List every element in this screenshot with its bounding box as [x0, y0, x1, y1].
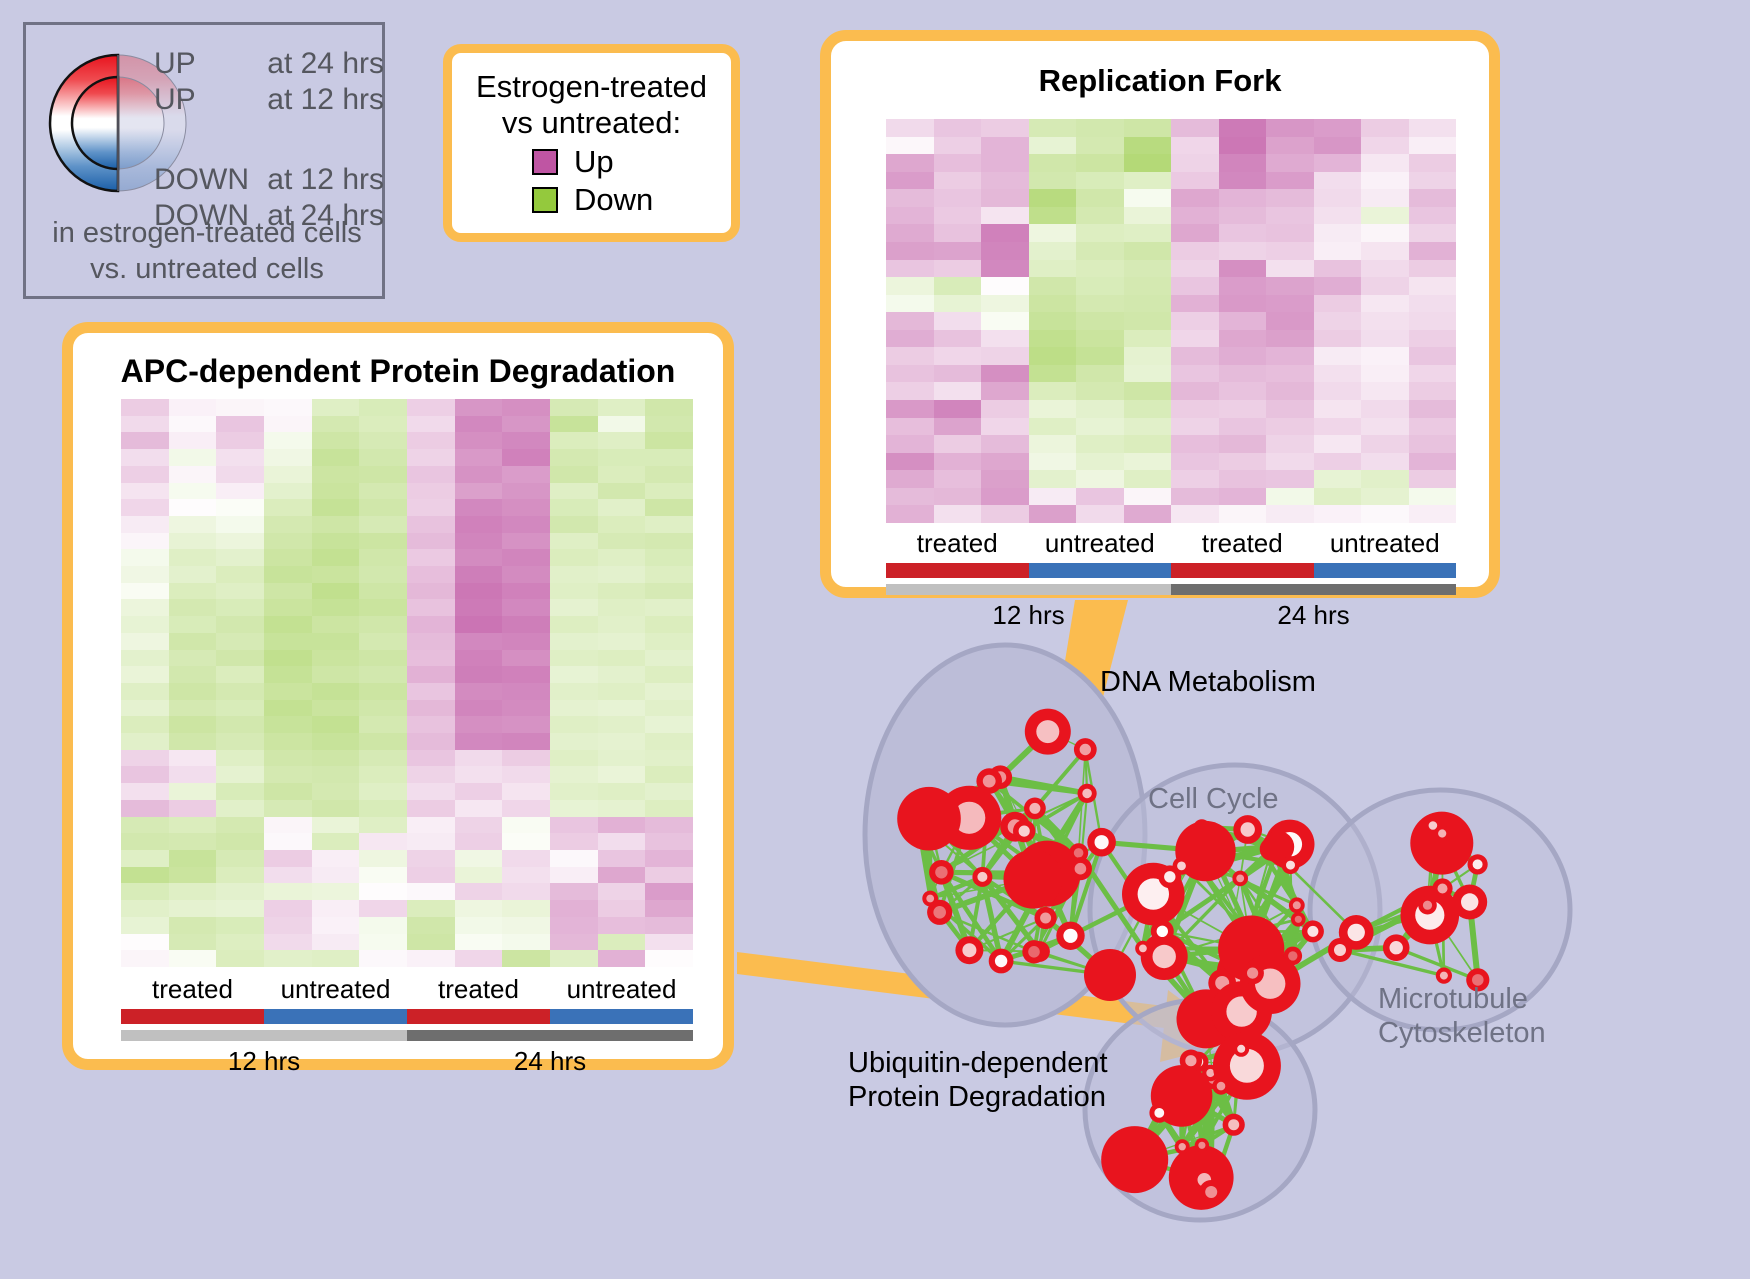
- heatmap-cell: [216, 432, 264, 449]
- heatmap-cell: [407, 766, 455, 783]
- network-node[interactable]: [1135, 941, 1150, 956]
- cluster-label-microtubule-cytoskeleton: Microtubule Cytoskeleton: [1378, 982, 1546, 1050]
- heatmap-cell: [312, 900, 360, 917]
- heatmap-cell: [886, 505, 934, 523]
- network-node[interactable]: [1022, 940, 1045, 963]
- heatmap-cell: [1266, 488, 1314, 506]
- heatmap-cell: [264, 917, 312, 934]
- heatmap-cell: [886, 277, 934, 295]
- heatmap-cell: [981, 277, 1029, 295]
- heatmap-cell: [502, 817, 550, 834]
- heatmap-cell: [455, 750, 503, 767]
- heatmap-cell: [407, 399, 455, 416]
- network-node-core: [1293, 901, 1301, 909]
- heatmap-cell: [550, 516, 598, 533]
- heatmap-cell: [1219, 330, 1267, 348]
- heatmap-cell: [1124, 488, 1172, 506]
- heatmap-cell: [502, 883, 550, 900]
- heatmap-cell: [216, 483, 264, 500]
- heatmap-cell: [216, 566, 264, 583]
- network-node[interactable]: [1013, 820, 1035, 842]
- network-node[interactable]: [1328, 938, 1352, 962]
- heatmap-cell: [1219, 312, 1267, 330]
- heatmap-cell: [1314, 119, 1362, 137]
- heatmap-cell: [550, 432, 598, 449]
- heatmap-cell: [645, 766, 693, 783]
- heatmap-cell: [1219, 453, 1267, 471]
- heatmap-cell: [1219, 435, 1267, 453]
- network-node[interactable]: [1432, 878, 1452, 898]
- heatmap-cell: [1266, 154, 1314, 172]
- heatmap-cell: [645, 783, 693, 800]
- heatmap-cell: [1124, 242, 1172, 260]
- heatmap-cell: [312, 867, 360, 884]
- heatmap-cell: [407, 733, 455, 750]
- heatmap-cell: [598, 850, 646, 867]
- heatmap-cell: [1076, 505, 1124, 523]
- heatmap-row: [121, 883, 693, 900]
- heatmap-cell: [598, 466, 646, 483]
- network-node-core: [1063, 929, 1077, 943]
- heatmap-cell: [312, 583, 360, 600]
- heatmap-cell: [312, 633, 360, 650]
- heatmap-cell: [1314, 260, 1362, 278]
- heatmap-row: [121, 599, 693, 616]
- heatmap-cell: [1314, 365, 1362, 383]
- heatmap-cell: [1409, 119, 1457, 137]
- heatmap-cell: [502, 633, 550, 650]
- heatmap-cell: [1361, 470, 1409, 488]
- heatmap-cell: [312, 432, 360, 449]
- heatmap-cell: [1076, 260, 1124, 278]
- network-node[interactable]: [1452, 885, 1487, 920]
- bar-time-12: [121, 1030, 407, 1041]
- heatmap-cell: [981, 207, 1029, 225]
- heatmap-cell: [1409, 154, 1457, 172]
- heatmap-cell: [1171, 347, 1219, 365]
- heatmap-cell: [598, 516, 646, 533]
- network-node[interactable]: [1241, 962, 1264, 985]
- heatmap-cell: [169, 633, 217, 650]
- heatmap-cell: [455, 716, 503, 733]
- heatmap-row: [121, 950, 693, 967]
- heatmap-cell: [550, 917, 598, 934]
- heatmap-cell: [934, 207, 982, 225]
- heatmap-cell: [1314, 137, 1362, 155]
- heatmap-cell: [1314, 224, 1362, 242]
- axis-label-treated-24: treated: [407, 973, 550, 1005]
- heatmap-cell: [1219, 189, 1267, 207]
- heatmap-cell: [934, 172, 982, 190]
- heatmap-cell: [598, 483, 646, 500]
- network-node[interactable]: [1199, 1180, 1223, 1204]
- heatmap-cell: [550, 733, 598, 750]
- network-node[interactable]: [1383, 934, 1410, 961]
- heatmap-cell: [1314, 470, 1362, 488]
- heatmap-cell: [1029, 365, 1077, 383]
- key-time-down-12: at 12 hrs: [267, 163, 384, 197]
- key-state-down-12: DOWN: [154, 163, 267, 197]
- network-node[interactable]: [1291, 912, 1306, 927]
- heatmap-row: [121, 833, 693, 850]
- network-node[interactable]: [1418, 896, 1437, 915]
- heatmap-cell: [1314, 418, 1362, 436]
- key-time-up-12: at 12 hrs: [267, 83, 384, 117]
- network-node[interactable]: [955, 936, 983, 964]
- heatmap-cell: [1076, 488, 1124, 506]
- heatmap-cell: [1361, 400, 1409, 418]
- heatmap-cell: [1076, 365, 1124, 383]
- heatmap-row: [121, 583, 693, 600]
- heatmap-cell: [121, 733, 169, 750]
- heatmap-row: [886, 137, 1456, 155]
- heatmap-cell: [216, 900, 264, 917]
- heatmap-cell: [455, 766, 503, 783]
- heatmap-row: [121, 432, 693, 449]
- heatmap-cell: [359, 766, 407, 783]
- heatmap-cell: [216, 666, 264, 683]
- network-node-core: [1198, 1142, 1205, 1149]
- heatmap-cell: [312, 566, 360, 583]
- network-node[interactable]: [1212, 1078, 1229, 1095]
- heatmap-cell: [1266, 260, 1314, 278]
- network-node[interactable]: [989, 949, 1014, 974]
- axis-treatment-bars: [121, 1009, 693, 1024]
- heatmap-cell: [455, 432, 503, 449]
- heatmap-cell: [1171, 382, 1219, 400]
- network-node[interactable]: [1233, 1041, 1249, 1057]
- network-node[interactable]: [1025, 709, 1071, 755]
- heatmap-cell: [1171, 470, 1219, 488]
- network-node[interactable]: [1468, 854, 1488, 874]
- heatmap-cell: [598, 566, 646, 583]
- heatmap-cell: [502, 833, 550, 850]
- heatmap-cell: [981, 137, 1029, 155]
- heatmap-cell: [1314, 207, 1362, 225]
- heatmap-cell: [1124, 312, 1172, 330]
- heatmap-cell: [886, 207, 934, 225]
- heatmap-cell: [981, 453, 1029, 471]
- heatmap-cell: [121, 950, 169, 967]
- heatmap-cell: [1219, 207, 1267, 225]
- network-node[interactable]: [972, 867, 992, 887]
- heatmap-cell: [1124, 453, 1172, 471]
- heatmap-cell: [121, 583, 169, 600]
- heatmap-cell: [455, 549, 503, 566]
- heatmap-cell: [359, 867, 407, 884]
- heatmap-cell: [312, 650, 360, 667]
- heatmap-cell: [502, 950, 550, 967]
- heatmap-cell: [407, 817, 455, 834]
- network-node[interactable]: [1035, 907, 1057, 929]
- bar-treated-24: [1171, 563, 1314, 578]
- bar-untreated-12: [264, 1009, 407, 1024]
- network-node[interactable]: [1084, 949, 1136, 1001]
- heatmap-cell: [455, 616, 503, 633]
- heatmap-cell: [216, 750, 264, 767]
- heatmap-cell: [407, 449, 455, 466]
- network-node[interactable]: [1101, 1126, 1168, 1193]
- heatmap-cell: [1409, 224, 1457, 242]
- heatmap-cell: [455, 449, 503, 466]
- key-row-up-12: UP at 12 hrs: [154, 83, 384, 117]
- heatmap-cell: [550, 950, 598, 967]
- heatmap-cell: [1029, 347, 1077, 365]
- heatmap-cell: [121, 483, 169, 500]
- network-node-core: [1074, 848, 1084, 858]
- network-node-core: [1205, 1186, 1217, 1198]
- heatmap-cell: [1029, 242, 1077, 260]
- heatmap-cell: [1219, 347, 1267, 365]
- heatmap-cell: [645, 416, 693, 433]
- heatmap-cell: [1409, 207, 1457, 225]
- heatmap-cell: [169, 650, 217, 667]
- heatmap-cell: [359, 516, 407, 533]
- network-node[interactable]: [1151, 920, 1174, 943]
- heatmap-cell: [359, 666, 407, 683]
- network-node[interactable]: [1410, 812, 1473, 875]
- heatmap-row: [121, 616, 693, 633]
- heatmap-cell: [1124, 347, 1172, 365]
- heatmap-cell: [1219, 400, 1267, 418]
- heatmap-cell: [886, 295, 934, 313]
- updown-legend-card: Estrogen-treated vs untreated: Up Down: [443, 44, 740, 242]
- heatmap-cell: [312, 466, 360, 483]
- heatmap-cell: [407, 867, 455, 884]
- heatmap-cell: [550, 499, 598, 516]
- bar-untreated-24: [550, 1009, 693, 1024]
- heatmap-cell: [1171, 330, 1219, 348]
- heatmap-cell: [645, 950, 693, 967]
- bar-treated-12: [886, 563, 1029, 578]
- heatmap-cell: [1029, 418, 1077, 436]
- heatmap-cell: [598, 633, 646, 650]
- heatmap-cell: [1409, 400, 1457, 418]
- network-node[interactable]: [1302, 920, 1324, 942]
- heatmap-cell: [550, 616, 598, 633]
- heatmap-cell: [598, 599, 646, 616]
- heatmap-cell: [1029, 119, 1077, 137]
- heatmap-cell: [264, 399, 312, 416]
- heatmap-cell: [934, 242, 982, 260]
- heatmap-cell: [264, 499, 312, 516]
- heatmap-cell: [598, 817, 646, 834]
- heatmap-cell: [598, 399, 646, 416]
- heatmap-cell: [216, 766, 264, 783]
- heatmap-row: [121, 900, 693, 917]
- heatmap-cell: [1029, 137, 1077, 155]
- heatmap-cell: [886, 488, 934, 506]
- network-node[interactable]: [927, 900, 952, 925]
- color-key-caption-line2: vs. untreated cells: [26, 251, 388, 287]
- heatmap-cell: [407, 716, 455, 733]
- heatmap-cell: [1409, 172, 1457, 190]
- heatmap-cell: [934, 505, 982, 523]
- heatmap-cell: [1409, 330, 1457, 348]
- heatmap-cell: [1029, 400, 1077, 418]
- network-node-core: [962, 943, 976, 957]
- heatmap-cell: [359, 549, 407, 566]
- network-node[interactable]: [1180, 1050, 1202, 1072]
- heatmap-cell: [407, 783, 455, 800]
- heatmap-cell: [264, 483, 312, 500]
- network-node-core: [1179, 1143, 1186, 1150]
- heatmap-cell: [407, 483, 455, 500]
- network-node[interactable]: [929, 860, 954, 885]
- heatmap-cell: [981, 330, 1029, 348]
- network-node[interactable]: [1173, 857, 1191, 875]
- heatmap-cell: [550, 750, 598, 767]
- heatmap-cell: [645, 666, 693, 683]
- heatmap-cell: [645, 716, 693, 733]
- heatmap-cell: [121, 499, 169, 516]
- heatmap-cell: [121, 549, 169, 566]
- heatmap-cell: [169, 616, 217, 633]
- heatmap-cell: [550, 683, 598, 700]
- network-node[interactable]: [1195, 1138, 1209, 1152]
- heatmap-cell: [359, 683, 407, 700]
- network-node[interactable]: [1282, 856, 1300, 874]
- heatmap-cell: [1314, 435, 1362, 453]
- network-node[interactable]: [1434, 825, 1450, 841]
- heatmap-cell: [121, 683, 169, 700]
- heatmap-cell: [1076, 277, 1124, 295]
- network-node-core: [977, 872, 987, 882]
- network-diagram: [780, 620, 1750, 1279]
- heatmap-cell: [1076, 295, 1124, 313]
- heatmap-cell: [645, 483, 693, 500]
- heatmap-cell: [886, 242, 934, 260]
- network-node[interactable]: [1232, 871, 1248, 887]
- heatmap-cell: [934, 312, 982, 330]
- heatmap-cell: [1029, 312, 1077, 330]
- heatmap-cell: [645, 883, 693, 900]
- heatmap-row: [886, 418, 1456, 436]
- heatmap-cell: [455, 833, 503, 850]
- heatmap-cell: [216, 934, 264, 951]
- heatmap-cell: [1124, 224, 1172, 242]
- heatmap-cell: [886, 418, 934, 436]
- heatmap-cell: [886, 330, 934, 348]
- heatmap-row: [121, 466, 693, 483]
- heatmap-cell: [1171, 189, 1219, 207]
- heatmap-cell: [1029, 189, 1077, 207]
- heatmap-cell: [645, 683, 693, 700]
- heatmap-cell: [455, 950, 503, 967]
- network-node[interactable]: [1149, 1103, 1169, 1123]
- heatmap-cell: [550, 599, 598, 616]
- heatmap-cell: [645, 800, 693, 817]
- network-node[interactable]: [1087, 828, 1116, 857]
- network-node[interactable]: [1289, 897, 1305, 913]
- heatmap-row: [121, 917, 693, 934]
- heatmap-cell: [1409, 295, 1457, 313]
- heatmap-cell: [1409, 189, 1457, 207]
- heatmap-cell: [312, 817, 360, 834]
- heatmap-cell: [1171, 224, 1219, 242]
- network-node[interactable]: [1069, 857, 1092, 880]
- heatmap-cell: [312, 483, 360, 500]
- heatmap-row: [886, 207, 1456, 225]
- heatmap-cell: [121, 399, 169, 416]
- heatmap-cell: [216, 733, 264, 750]
- heatmap-cell: [407, 950, 455, 967]
- network-node[interactable]: [1024, 798, 1046, 820]
- heatmap-row: [121, 516, 693, 533]
- network-node[interactable]: [1078, 784, 1097, 803]
- heatmap-cell: [1361, 295, 1409, 313]
- heatmap-cell: [455, 800, 503, 817]
- heatmap-cell: [1076, 330, 1124, 348]
- heatmap-cell: [502, 583, 550, 600]
- heatmap-cell: [216, 683, 264, 700]
- heatmap-cell: [455, 883, 503, 900]
- heatmap-cell: [407, 466, 455, 483]
- heatmap-cell: [1029, 295, 1077, 313]
- heatmap-cell: [264, 633, 312, 650]
- heatmap-cell: [1409, 382, 1457, 400]
- heatmap-cell: [645, 650, 693, 667]
- heatmap-cell: [1029, 453, 1077, 471]
- heatmap-cell: [312, 800, 360, 817]
- network-node-core: [1237, 1045, 1245, 1053]
- heatmap-cell: [216, 399, 264, 416]
- heatmap-cell: [981, 382, 1029, 400]
- network-node[interactable]: [1074, 738, 1097, 761]
- heatmap-cell: [407, 650, 455, 667]
- heatmap-cell: [169, 449, 217, 466]
- heatmap-row: [886, 224, 1456, 242]
- heatmap-cell: [934, 347, 982, 365]
- network-node-core: [1080, 744, 1091, 755]
- heatmap-cell: [359, 750, 407, 767]
- network-node[interactable]: [1056, 922, 1084, 950]
- heatmap-cell: [407, 934, 455, 951]
- heatmap-cell: [169, 934, 217, 951]
- heatmap-cell: [169, 683, 217, 700]
- network-node[interactable]: [1233, 815, 1262, 844]
- heatmap-cell: [312, 549, 360, 566]
- heatmap-cell: [455, 399, 503, 416]
- heatmap-cell: [169, 399, 217, 416]
- heatmap-cell: [121, 883, 169, 900]
- heatmap-cell: [312, 766, 360, 783]
- heatmap-cell: [598, 432, 646, 449]
- network-node[interactable]: [976, 768, 1002, 794]
- network-node[interactable]: [1223, 1114, 1245, 1136]
- network-node[interactable]: [897, 787, 961, 851]
- heatmap-cell: [1076, 189, 1124, 207]
- heatmap-row: [886, 277, 1456, 295]
- legend-title-line1: Estrogen-treated: [452, 69, 731, 105]
- heatmap-cell: [169, 733, 217, 750]
- network-node[interactable]: [1004, 850, 1063, 909]
- heatmap-cell: [455, 850, 503, 867]
- axis-treatment-bars: [886, 563, 1456, 578]
- network-node[interactable]: [1175, 1139, 1190, 1154]
- heatmap-cell: [216, 867, 264, 884]
- legend-swatch-down-icon: [532, 187, 558, 213]
- heatmap-cell: [1266, 382, 1314, 400]
- heatmap-cell: [312, 883, 360, 900]
- heatmap-cell: [169, 466, 217, 483]
- network-node-core: [1217, 1082, 1226, 1091]
- heatmap-cell: [264, 750, 312, 767]
- heatmap-cell: [1029, 154, 1077, 172]
- heatmap-cell: [1409, 312, 1457, 330]
- heatmap-row: [121, 934, 693, 951]
- axis-treatment-labels: treated untreated treated untreated: [886, 527, 1456, 559]
